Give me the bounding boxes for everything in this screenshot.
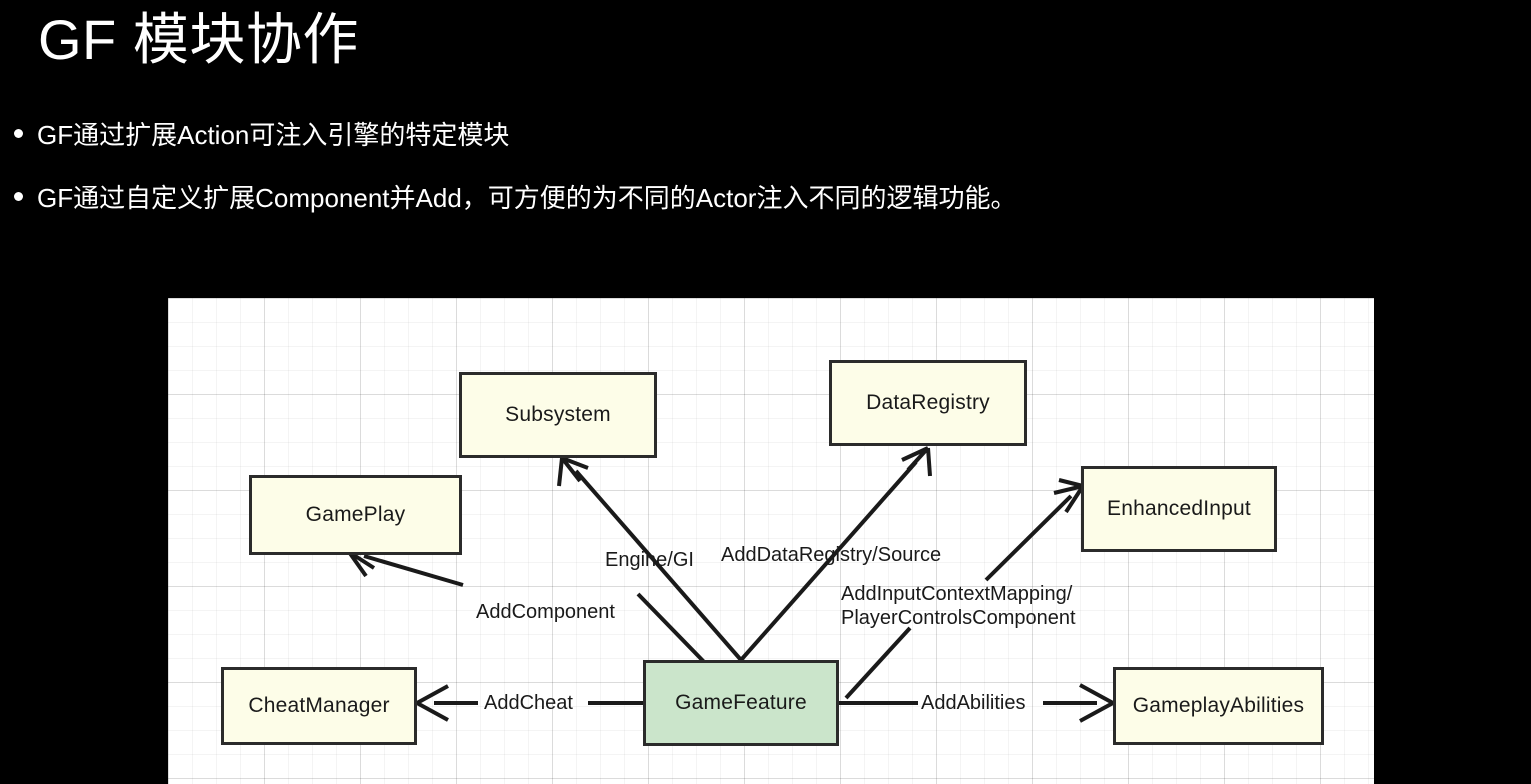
edge-label-adddataregistry-source: AddDataRegistry/Source [721, 543, 941, 567]
edge-label-line-1: AddInputContextMapping/ [841, 582, 1076, 606]
bullet-dot-icon [14, 192, 23, 201]
node-cheatmanager[interactable]: CheatManager [221, 667, 417, 745]
node-gameplayabilities[interactable]: GameplayAbilities [1113, 667, 1324, 745]
node-gamefeature[interactable]: GameFeature [643, 660, 839, 746]
bullet-text: GF通过自定义扩展Component并Add，可方便的为不同的Actor注入不同… [37, 181, 1016, 215]
edge-label-line-2: PlayerControlsComponent [841, 606, 1076, 630]
diagram-canvas: Subsystem DataRegistry GamePlay Enhanced… [168, 298, 1374, 784]
edge-line-gamefeature-gameplay-b [364, 556, 463, 585]
page-title: GF 模块协作 [38, 4, 359, 76]
node-label: GameplayAbilities [1133, 694, 1304, 718]
bullet-item: GF通过自定义扩展Component并Add，可方便的为不同的Actor注入不同… [14, 181, 1016, 215]
node-label: GamePlay [306, 503, 406, 527]
node-label: GameFeature [675, 691, 807, 715]
slide-root: GF 模块协作 GF通过扩展Action可注入引擎的特定模块 GF通过自定义扩展… [0, 0, 1531, 784]
node-dataregistry[interactable]: DataRegistry [829, 360, 1027, 446]
edge-label-addcomponent: AddComponent [476, 600, 615, 624]
edge-label-addabilities: AddAbilities [921, 691, 1026, 715]
node-label: DataRegistry [866, 391, 990, 415]
node-gameplay[interactable]: GamePlay [249, 475, 462, 555]
edge-line-gamefeature-enhancedinput-a [846, 628, 910, 698]
node-label: Subsystem [505, 403, 611, 427]
edge-label-engine-gi: Engine/GI [605, 548, 694, 572]
node-subsystem[interactable]: Subsystem [459, 372, 657, 458]
node-enhancedinput[interactable]: EnhancedInput [1081, 466, 1277, 552]
bullet-item: GF通过扩展Action可注入引擎的特定模块 [14, 118, 509, 152]
node-label: CheatManager [248, 694, 389, 718]
edge-line-gamefeature-enhancedinput-b [986, 496, 1071, 580]
edge-label-addcheat: AddCheat [484, 691, 573, 715]
node-label: EnhancedInput [1107, 497, 1251, 521]
edge-line-gamefeature-gameplay-a [638, 594, 708, 666]
bullet-text: GF通过扩展Action可注入引擎的特定模块 [37, 118, 509, 152]
edge-label-addinputcontextmapping: AddInputContextMapping/ PlayerControlsCo… [841, 582, 1076, 630]
bullet-dot-icon [14, 129, 23, 138]
